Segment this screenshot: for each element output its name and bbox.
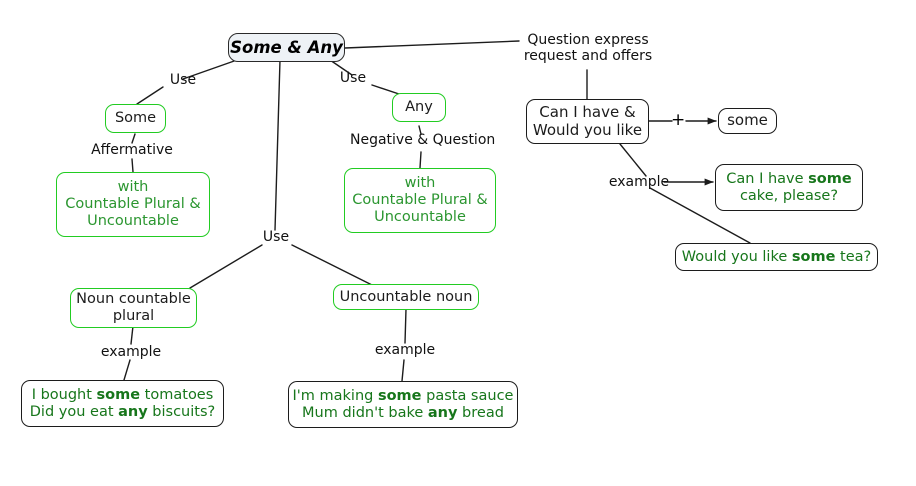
node-uncountable-noun[interactable]: Uncountable noun xyxy=(333,284,479,310)
node-can-i-have-label: Can I have & Would you like xyxy=(533,104,642,139)
edge-label-question-express: Question express request and offers xyxy=(521,32,655,64)
node-noun-countable-plural[interactable]: Noun countable plural xyxy=(70,288,197,328)
edge-label-example-right: example xyxy=(608,174,670,190)
edge-neglabel-to-anywith xyxy=(420,152,421,168)
node-root-label: Some & Any xyxy=(230,38,343,57)
edge-label-example-left: example xyxy=(96,344,166,360)
node-some-label: Some xyxy=(115,110,156,127)
node-root-some-and-any[interactable]: Some & Any xyxy=(228,33,345,62)
node-any-label: Any xyxy=(405,99,433,116)
node-some-small-label: some xyxy=(727,112,768,129)
example-box-tea-text: Would you like some tea? xyxy=(682,249,871,266)
edge-label-use-right: Use xyxy=(335,70,371,86)
example-box-cake-text: Can I have somecake, please? xyxy=(726,171,851,205)
node-any[interactable]: Any xyxy=(392,93,446,122)
edge-label-affermative: Affermative xyxy=(80,142,184,158)
example-box-tomatoes[interactable]: I bought some tomatoesDid you eat any bi… xyxy=(21,380,224,427)
node-some[interactable]: Some xyxy=(105,104,166,133)
edge-root-to-use-center xyxy=(275,60,280,230)
node-some-small[interactable]: some xyxy=(718,108,777,134)
edge-noun-to-example-left xyxy=(131,326,133,344)
edge-label-example-middle: example xyxy=(370,342,440,358)
node-noun-countable-plural-label: Noun countable plural xyxy=(76,291,191,325)
node-can-i-have-would-you-like[interactable]: Can I have & Would you like xyxy=(526,99,649,144)
edge-use-left-to-some xyxy=(137,87,163,104)
edge-uncountable-to-example-mid xyxy=(405,309,406,343)
node-some-with-label: with Countable Plural & Uncountable xyxy=(65,179,200,229)
node-any-with-countable[interactable]: with Countable Plural & Uncountable xyxy=(344,168,496,233)
edge-label-negative-question: Negative & Question xyxy=(350,132,494,148)
node-some-with-countable[interactable]: with Countable Plural & Uncountable xyxy=(56,172,210,237)
node-uncountable-noun-label: Uncountable noun xyxy=(340,289,473,306)
edge-use-center-to-uncountable xyxy=(292,245,374,286)
edge-root-to-question-express xyxy=(345,41,519,48)
edge-label-use-center: Use xyxy=(258,229,294,245)
edge-canihave-to-example-right xyxy=(620,144,646,176)
example-box-cake[interactable]: Can I have somecake, please? xyxy=(715,164,863,211)
edge-use-center-to-noun-countable xyxy=(190,245,262,288)
mindmap-canvas: Some & Any Some with Countable Plural & … xyxy=(0,0,916,486)
edge-example-left-to-box xyxy=(124,360,130,380)
edge-label-use-left: Use xyxy=(165,72,201,88)
example-box-pasta[interactable]: I'm making some pasta sauceMum didn't ba… xyxy=(288,381,518,428)
example-box-pasta-text: I'm making some pasta sauceMum didn't ba… xyxy=(293,388,514,422)
node-any-with-label: with Countable Plural & Uncountable xyxy=(352,175,487,225)
edge-example-mid-to-box xyxy=(402,360,404,381)
example-box-tea[interactable]: Would you like some tea? xyxy=(675,243,878,271)
edge-label-plus: + xyxy=(671,112,685,129)
example-box-tomatoes-text: I bought some tomatoesDid you eat any bi… xyxy=(30,387,215,421)
edge-affermative-to-somewith xyxy=(132,159,133,172)
